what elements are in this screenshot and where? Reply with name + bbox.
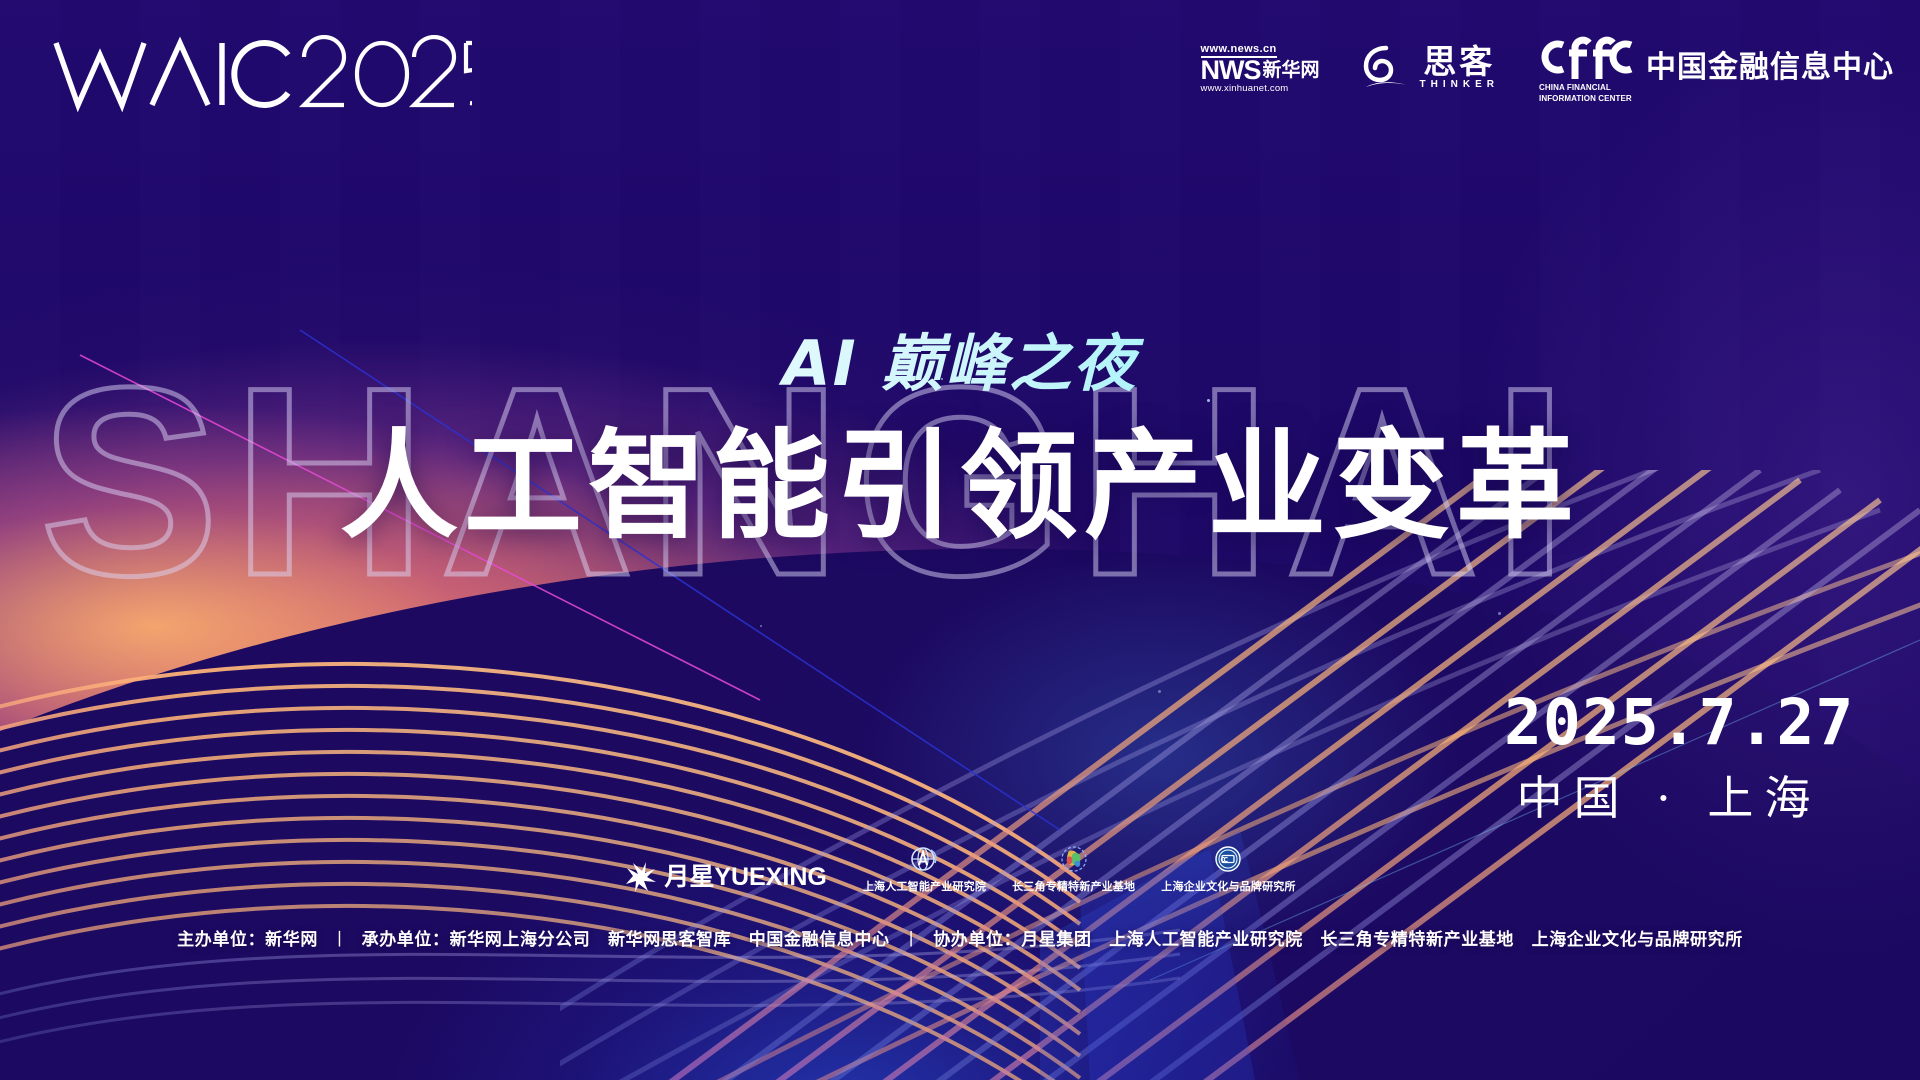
cfic-name-en-1: CHINA FINANCIAL (1539, 83, 1611, 92)
header-partner-logos: www.news.cn NWS 新华网 www.xinhuanet.com 思客… (1201, 28, 1894, 108)
xinhua-news-logo: www.news.cn NWS 新华网 www.xinhuanet.com (1201, 43, 1320, 94)
cfic-logo: CHINA FINANCIAL INFORMATION CENTER 中国金融信… (1539, 33, 1894, 103)
footer-coorganizer-label: 协办单位： (933, 930, 1021, 949)
xinhua-name-cn: 新华网 (1263, 61, 1320, 82)
cfic-name-en-2: INFORMATION CENTER (1539, 94, 1632, 103)
hero-subtitle: AI 巅峰之夜 (0, 330, 1920, 398)
sparkle-dot (1158, 690, 1161, 693)
event-location: 中国 · 上海 (1504, 768, 1834, 828)
footer-organizer-label: 承办单位： (362, 930, 450, 949)
swirl-icon (1360, 42, 1412, 94)
hero-headline: 人工智能引领产业变革 (0, 420, 1920, 552)
cfic-name-cn: 中国金融信息中心 (1646, 52, 1894, 84)
partner-name-secbri: 上海企业文化与品牌研究所 (1161, 878, 1295, 894)
poster-canvas: SHANGHAI (0, 0, 1920, 1080)
partner-name-yuexing: 月星YUEXING (664, 864, 827, 891)
partner-logo-secbri: 上海企业文化与品牌研究所 (1161, 845, 1295, 894)
partner-logo-yuexing: 月星YUEXING (624, 860, 827, 894)
footer-organizer-values: 新华网上海分公司 新华网思客智库 中国金融信息中心 (450, 930, 890, 949)
partner-logo-yrd-base: 长三角专精特新产业基地 (1012, 845, 1135, 894)
thinker-logo: 思客 THINKER (1360, 42, 1499, 94)
partner-logo-row: 月星YUEXING 上海人工智能产业研究院 (0, 845, 1920, 894)
footer-separator-2: 丨 (890, 925, 934, 950)
sparkle-dot (760, 625, 762, 627)
circle-seal-icon (1213, 845, 1243, 875)
footer-credits: 主办单位：新华网丨承办单位：新华网上海分公司 新华网思客智库 中国金融信息中心丨… (0, 925, 1920, 950)
cfic-mark-icon: CHINA FINANCIAL INFORMATION CENTER (1539, 33, 1635, 103)
waic-logo (52, 36, 472, 112)
sparkle-dot (1207, 399, 1210, 402)
event-date: 2025.7.27 (1504, 688, 1834, 758)
footer-separator-1: 丨 (318, 925, 362, 950)
globe-a-icon (909, 845, 939, 875)
event-date-block: 2025.7.27 中国 · 上海 (1504, 688, 1834, 828)
thinker-name-cn: 思客 (1423, 45, 1495, 78)
partner-logo-saiir: 上海人工智能产业研究院 (863, 845, 986, 894)
footer-coorganizer-values: 月星集团 上海人工智能产业研究院 长三角专精特新产业基地 上海企业文化与品牌研究… (1021, 930, 1743, 949)
thinker-name-en: THINKER (1420, 78, 1499, 91)
partner-name-yrd-base: 长三角专精特新产业基地 (1012, 878, 1135, 894)
footer-host-label: 主办单位： (177, 930, 265, 949)
partner-name-saiir: 上海人工智能产业研究院 (863, 878, 986, 894)
footer-host-value: 新华网 (265, 930, 318, 949)
star-bird-icon (624, 860, 658, 894)
sparkle-dot (1498, 612, 1501, 615)
xinhua-url-bottom: www.xinhuanet.com (1201, 83, 1289, 94)
colored-orb-icon (1059, 845, 1089, 875)
xinhua-abbrev: NWS (1201, 59, 1261, 82)
